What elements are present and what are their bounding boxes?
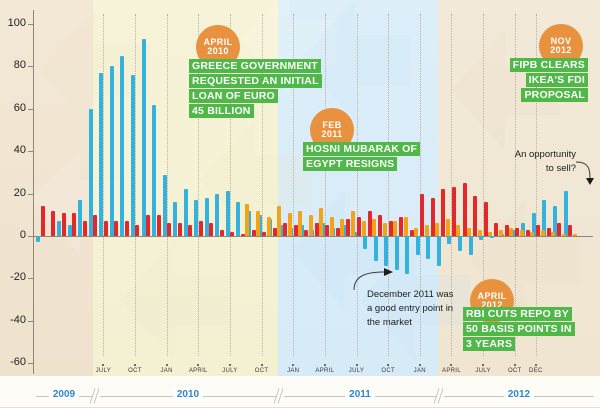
- bar-red: [72, 213, 76, 236]
- bar-orange: [393, 221, 397, 236]
- year-label: 2010: [173, 389, 203, 400]
- bar-orange: [467, 228, 471, 236]
- x-tick-label: APRIL: [189, 368, 208, 374]
- bar-red: [526, 230, 530, 236]
- x-tick-label: OCT: [381, 368, 395, 374]
- bottom-divider: [0, 407, 600, 412]
- bar-red: [389, 221, 393, 236]
- x-tick-label: JULY: [96, 368, 111, 374]
- bar-orange: [562, 234, 566, 236]
- bar-red: [346, 219, 350, 236]
- callout-mubarak-line-1: HOSNI MUBARAK OF: [303, 142, 420, 156]
- x-tick-label: DEC: [529, 368, 543, 374]
- callout-entry-point-line-2: a good entry point in: [367, 302, 485, 316]
- bar-blue: [426, 236, 430, 259]
- bar-orange: [499, 230, 503, 236]
- callout-greece-line-1: GREECE GOVERNMENT: [189, 59, 321, 73]
- bar-orange: [362, 221, 366, 236]
- bar-orange: [446, 219, 450, 236]
- bar-blue: [374, 236, 378, 261]
- x-tick-label: JAN: [160, 368, 172, 374]
- bar-red: [484, 202, 488, 236]
- callout-ikea: FIPB CLEARS IKEA'S FDI PROPOSAL: [460, 58, 588, 103]
- year-rail-break: [434, 388, 444, 404]
- y-tick: [28, 151, 34, 152]
- y-tick-label: 20: [0, 187, 26, 199]
- x-tick-label: JULY: [349, 368, 364, 374]
- gridline: [357, 14, 358, 356]
- gridline: [135, 14, 136, 356]
- callout-ikea-line-1: FIPB CLEARS: [510, 58, 588, 72]
- bar-red: [294, 225, 298, 236]
- bar-orange: [551, 232, 555, 236]
- bar-orange: [330, 217, 334, 236]
- bar-orange: [340, 219, 344, 236]
- bar-red: [494, 223, 498, 236]
- bar-blue: [479, 236, 483, 240]
- x-tick-dot: [134, 364, 136, 366]
- x-tick-dot: [324, 364, 326, 366]
- x-tick-label: JULY: [475, 368, 490, 374]
- bar-red: [230, 232, 234, 236]
- zero-baseline: [33, 236, 593, 237]
- bar-blue: [384, 236, 388, 266]
- callout-mubarak: HOSNI MUBARAK OF EGYPT RESIGNS: [303, 142, 420, 172]
- callout-greece-line-3: LOAN OF EURO: [189, 89, 278, 103]
- bar-red: [515, 228, 519, 236]
- bar-red: [41, 206, 45, 236]
- callout-opportunity-line-1: An opportunity: [498, 148, 576, 162]
- bar-blue: [142, 39, 146, 236]
- bar-blue: [564, 191, 568, 236]
- bar-blue: [120, 56, 124, 236]
- bar-orange: [383, 223, 387, 236]
- bar-orange: [456, 225, 460, 236]
- callout-greece-line-4: 45 BILLION: [189, 104, 254, 118]
- y-axis-line: [33, 10, 34, 374]
- bar-red: [262, 232, 266, 236]
- bar-blue: [131, 75, 135, 236]
- bar-orange: [520, 230, 524, 236]
- bar-orange: [351, 211, 355, 236]
- bar-blue: [110, 66, 114, 236]
- bar-orange: [414, 228, 418, 236]
- bar-red: [452, 187, 456, 236]
- badge-ikea-year: 2012: [550, 46, 572, 55]
- bar-red: [283, 223, 287, 236]
- x-tick-dot: [229, 364, 231, 366]
- bar-orange: [256, 211, 260, 236]
- callout-opportunity: An opportunity to sell?: [498, 148, 576, 176]
- bar-orange: [509, 228, 513, 236]
- callout-rbi-line-3: 3 YEARS: [463, 337, 515, 351]
- bar-red: [51, 211, 55, 236]
- bar-blue: [236, 202, 240, 236]
- bar-blue: [194, 200, 198, 236]
- callout-entry-point-line-1: December 2011 was: [367, 288, 485, 302]
- bar-orange: [478, 230, 482, 236]
- y-tick: [28, 109, 34, 110]
- callout-entry-point: December 2011 was a good entry point in …: [367, 288, 485, 329]
- bar-red: [557, 223, 561, 236]
- bar-blue: [490, 236, 494, 238]
- bar-orange: [319, 208, 323, 236]
- y-tick: [28, 24, 34, 25]
- badge-mubarak-year: 2011: [321, 130, 342, 139]
- bar-blue: [395, 236, 399, 270]
- bar-blue: [205, 198, 209, 236]
- gridline: [103, 14, 104, 356]
- bar-red: [93, 215, 97, 236]
- bar-red: [399, 217, 403, 236]
- bar-blue: [163, 175, 167, 236]
- callout-entry-point-line-3: the market: [367, 316, 485, 330]
- bar-red: [157, 215, 161, 236]
- bar-red: [536, 225, 540, 236]
- x-tick-dot: [292, 364, 294, 366]
- opportunity-leader-line: [574, 158, 594, 186]
- y-tick-label: 60: [0, 102, 26, 114]
- bar-red: [273, 228, 277, 236]
- bar-red: [473, 196, 477, 236]
- y-tick-label: 40: [0, 144, 26, 156]
- x-tick-dot: [166, 364, 168, 366]
- bar-blue: [458, 236, 462, 251]
- bar-red: [431, 198, 435, 236]
- bar-red: [209, 223, 213, 236]
- bar-red: [188, 225, 192, 236]
- callout-opportunity-line-2: to sell?: [498, 162, 576, 176]
- bar-red: [62, 213, 66, 236]
- y-tick-label: -20: [0, 271, 26, 283]
- bar-red: [199, 221, 203, 236]
- bar-orange: [245, 204, 249, 236]
- bar-blue: [99, 73, 103, 236]
- infographic-chart: 100806040200-20-40-60 JULYOCTJANAPRILJUL…: [0, 0, 600, 412]
- year-rail: 2009201020112012: [0, 388, 600, 406]
- x-tick-label: OCT: [508, 368, 522, 374]
- bar-blue: [226, 191, 230, 236]
- bar-red: [357, 217, 361, 236]
- bar-orange: [425, 225, 429, 236]
- year-rail-break: [90, 388, 100, 404]
- bar-blue: [36, 236, 40, 242]
- bar-orange: [288, 213, 292, 236]
- x-tick-dot: [102, 364, 104, 366]
- badge-greece-year: 2010: [207, 47, 229, 56]
- bar-orange: [435, 223, 439, 236]
- bar-red: [114, 221, 118, 236]
- bar-orange: [404, 217, 408, 236]
- bar-orange: [309, 215, 313, 236]
- bar-red: [241, 234, 245, 236]
- bar-blue: [215, 194, 219, 236]
- bar-orange: [277, 206, 281, 236]
- x-tick-dot: [514, 364, 516, 366]
- bar-red: [336, 228, 340, 236]
- callout-mubarak-line-2: EGYPT RESIGNS: [303, 157, 397, 171]
- x-tick-dot: [535, 364, 537, 366]
- callout-ikea-line-2: IKEA'S FDI: [526, 73, 588, 87]
- bar-orange: [372, 219, 376, 236]
- y-tick-label: 0: [0, 229, 26, 241]
- bar-red: [178, 223, 182, 236]
- bar-red: [463, 183, 467, 236]
- bar-blue: [447, 236, 451, 244]
- bar-orange: [541, 230, 545, 236]
- year-label: 2012: [504, 389, 534, 400]
- bar-blue: [416, 236, 420, 255]
- bar-blue: [437, 236, 441, 266]
- bar-orange: [488, 232, 492, 236]
- year-label: 2011: [345, 389, 375, 400]
- x-tick-dot: [419, 364, 421, 366]
- x-tick-dot: [261, 364, 263, 366]
- bar-red: [368, 211, 372, 236]
- callout-ikea-line-3: PROPOSAL: [521, 88, 588, 102]
- x-tick-label: OCT: [255, 368, 269, 374]
- y-tick: [28, 66, 34, 67]
- bar-blue: [57, 221, 61, 236]
- y-tick: [28, 363, 34, 364]
- x-tick-label: JAN: [414, 368, 426, 374]
- x-tick-label: APRIL: [442, 368, 461, 374]
- year-rail-break: [274, 388, 284, 404]
- bar-red: [146, 215, 150, 236]
- x-tick-label: JULY: [222, 368, 237, 374]
- bar-red: [325, 225, 329, 236]
- x-tick-dot: [197, 364, 199, 366]
- year-label: 2009: [49, 389, 79, 400]
- bar-blue: [89, 109, 93, 236]
- bar-red: [135, 225, 139, 236]
- bar-blue: [78, 200, 82, 236]
- bar-orange: [298, 211, 302, 236]
- y-tick-label: -60: [0, 356, 26, 368]
- bar-orange: [267, 217, 271, 236]
- bar-red: [568, 225, 572, 236]
- bar-red: [167, 223, 171, 236]
- x-tick-label: APRIL: [315, 368, 334, 374]
- bar-red: [125, 221, 129, 236]
- bar-red: [410, 230, 414, 236]
- bar-red: [220, 230, 224, 236]
- bar-red: [441, 189, 445, 236]
- bar-blue: [152, 105, 156, 236]
- gridline: [167, 14, 168, 356]
- x-tick-label: JAN: [287, 368, 299, 374]
- y-tick: [28, 194, 34, 195]
- bar-red: [315, 223, 319, 236]
- y-tick: [28, 278, 34, 279]
- x-tick-dot: [482, 364, 484, 366]
- bar-red: [304, 230, 308, 236]
- bar-blue: [469, 236, 473, 255]
- bar-red: [505, 225, 509, 236]
- bar-blue: [68, 225, 72, 236]
- bar-orange: [530, 232, 534, 236]
- bar-red: [83, 221, 87, 236]
- x-tick-dot: [450, 364, 452, 366]
- bar-red: [378, 215, 382, 236]
- bar-red: [252, 230, 256, 236]
- y-tick: [28, 321, 34, 322]
- bar-blue: [173, 202, 177, 236]
- bar-orange: [573, 234, 577, 236]
- callout-greece-line-2: REQUESTED AN INITIAL: [189, 74, 322, 88]
- y-tick-label: 80: [0, 59, 26, 71]
- x-tick-dot: [387, 364, 389, 366]
- bar-blue: [184, 189, 188, 236]
- bar-red: [104, 221, 108, 236]
- y-tick-label: -40: [0, 314, 26, 326]
- x-axis: JULYOCTJANAPRILJULYOCTJANAPRILJULYOCTJAN…: [0, 368, 600, 384]
- bar-blue: [363, 236, 367, 249]
- callout-greece: GREECE GOVERNMENT REQUESTED AN INITIAL L…: [189, 59, 322, 119]
- bar-red: [547, 228, 551, 236]
- x-tick-label: OCT: [128, 368, 142, 374]
- bar-blue: [405, 236, 409, 274]
- gridline: [325, 14, 326, 356]
- bar-red: [420, 194, 424, 236]
- x-tick-dot: [356, 364, 358, 366]
- y-tick-label: 100: [0, 17, 26, 29]
